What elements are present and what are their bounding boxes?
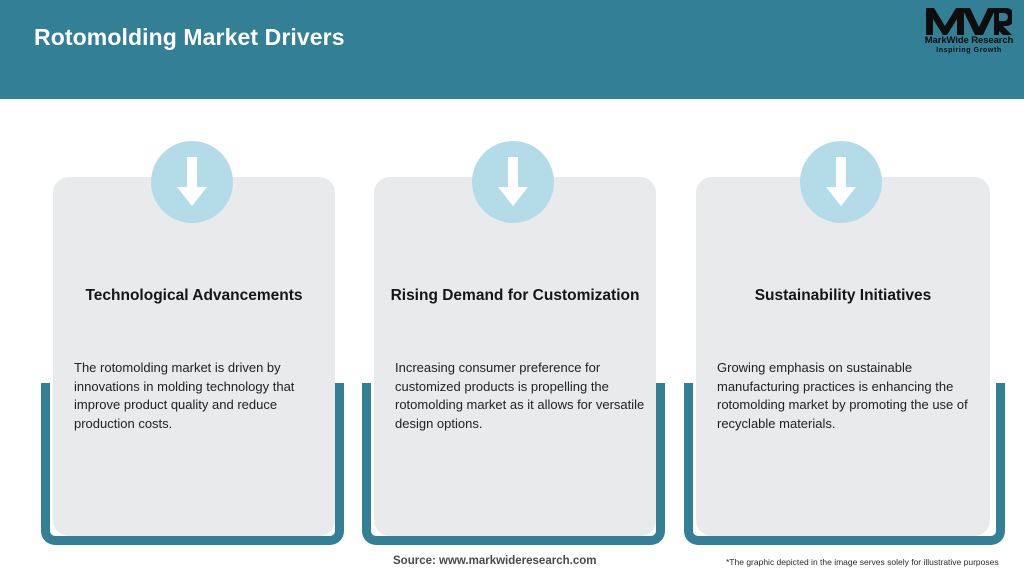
driver-card-rising-demand-for-customization: Rising Demand for Customization Increasi… <box>362 141 682 545</box>
page-title: Rotomolding Market Drivers <box>34 24 345 51</box>
driver-card-technological-advancements: Technological Advancements The rotomoldi… <box>41 141 361 545</box>
slide-canvas: Rotomolding Market Drivers MarkWide Rese… <box>0 0 1024 576</box>
down-arrow-icon <box>472 141 554 223</box>
brand-logo: MarkWide Research Inspiring Growth <box>920 6 1018 62</box>
down-arrow-icon <box>151 141 233 223</box>
logo-tagline: Inspiring Growth <box>920 47 1018 54</box>
card-panel: Rising Demand for Customization Increasi… <box>374 177 656 536</box>
down-arrow-icon <box>800 141 882 223</box>
card-title: Sustainability Initiatives <box>710 284 976 307</box>
logo-company-name: MarkWide Research <box>920 35 1018 46</box>
mwr-logo-icon <box>920 6 1018 36</box>
card-body-text: Increasing consumer preference for custo… <box>395 359 645 433</box>
card-panel: Technological Advancements The rotomoldi… <box>53 177 335 536</box>
card-body-text: Growing emphasis on sustainable manufact… <box>717 359 981 433</box>
source-attribution: Source: www.markwideresearch.com <box>393 555 596 567</box>
card-body-text: The rotomolding market is driven by inno… <box>74 359 324 433</box>
card-panel: Sustainability Initiatives Growing empha… <box>696 177 990 536</box>
card-title: Technological Advancements <box>67 284 321 307</box>
card-title: Rising Demand for Customization <box>388 284 642 307</box>
driver-card-sustainability-initiatives: Sustainability Initiatives Growing empha… <box>684 141 1004 545</box>
disclaimer-note: *The graphic depicted in the image serve… <box>726 557 999 567</box>
